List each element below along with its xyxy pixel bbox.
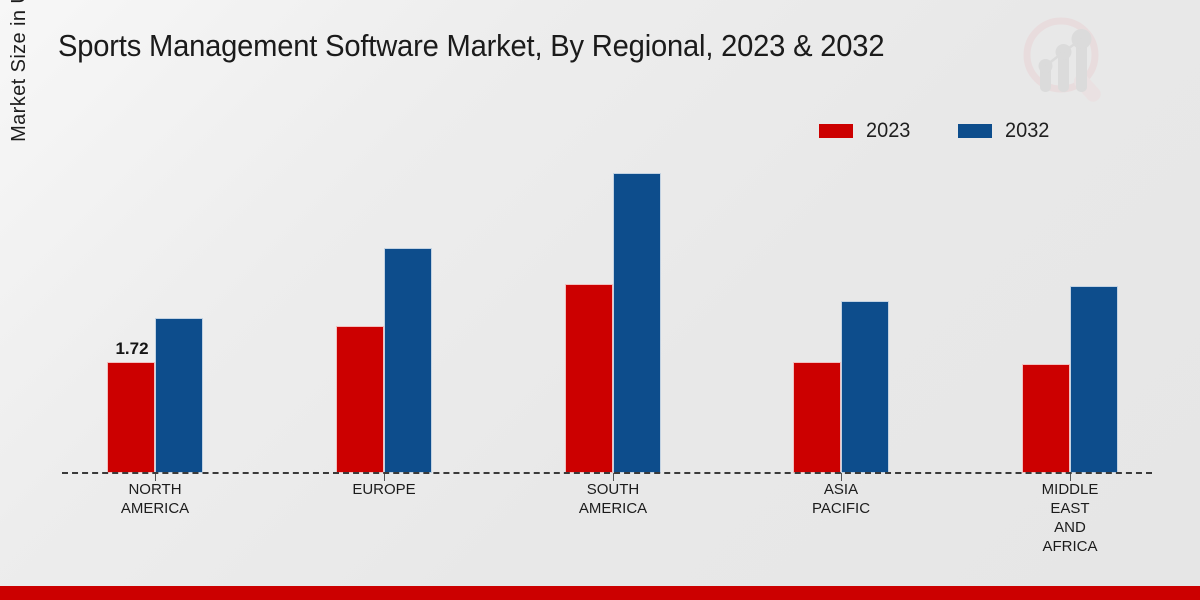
bar-group bbox=[1022, 150, 1118, 473]
legend-swatch-2023 bbox=[819, 124, 853, 138]
x-axis-label: ASIAPACIFIC bbox=[761, 480, 921, 518]
bar-2023-asia-pacific[interactable] bbox=[793, 362, 841, 473]
chart-legend: 2023 2032 bbox=[819, 119, 1052, 143]
bar-2023-south-america[interactable] bbox=[565, 284, 613, 473]
bar-2032-middle-east-and-africa[interactable] bbox=[1070, 286, 1118, 473]
bar-group bbox=[565, 150, 661, 473]
bar-2032-north-america[interactable] bbox=[155, 318, 203, 473]
bar-2023-middle-east-and-africa[interactable] bbox=[1022, 364, 1070, 473]
bar-2023-europe[interactable] bbox=[336, 326, 384, 473]
bar-2032-europe[interactable] bbox=[384, 248, 432, 473]
market-research-magnifier-bars-logo-icon bbox=[1014, 8, 1118, 112]
legend-swatch-2032 bbox=[958, 124, 992, 138]
x-axis-baseline bbox=[62, 472, 1152, 474]
legend-item-2032[interactable]: 2032 bbox=[958, 119, 1052, 143]
bar-group: 1.72 bbox=[107, 150, 203, 473]
legend-item-2023[interactable]: 2023 bbox=[819, 119, 913, 143]
bar-2032-asia-pacific[interactable] bbox=[841, 301, 889, 473]
plot-area: 1.72 bbox=[62, 150, 1152, 474]
x-axis-label: MIDDLEEASTANDAFRICA bbox=[990, 480, 1150, 556]
legend-label-2032: 2032 bbox=[1005, 119, 1049, 143]
x-axis-label: EUROPE bbox=[304, 480, 464, 499]
y-axis-title-text: Market Size in USD Billion bbox=[4, 0, 35, 142]
bar-2023-north-america[interactable] bbox=[107, 362, 155, 473]
bar-group bbox=[793, 150, 889, 473]
bottom-accent-band bbox=[0, 586, 1200, 600]
bar-group bbox=[336, 150, 432, 473]
x-axis-label: NORTHAMERICA bbox=[75, 480, 235, 518]
x-axis-label: SOUTHAMERICA bbox=[533, 480, 693, 518]
x-axis-labels: NORTHAMERICAEUROPESOUTHAMERICAASIAPACIFI… bbox=[62, 480, 1152, 570]
legend-label-2023: 2023 bbox=[866, 119, 910, 143]
bars-layer: 1.72 bbox=[62, 150, 1152, 473]
chart-title: Sports Management Software Market, By Re… bbox=[58, 28, 884, 64]
y-axis-title: Market Size in USD Billion bbox=[4, 0, 34, 185]
chart-canvas: Sports Management Software Market, By Re… bbox=[0, 0, 1200, 600]
bar-2032-south-america[interactable] bbox=[613, 173, 661, 473]
